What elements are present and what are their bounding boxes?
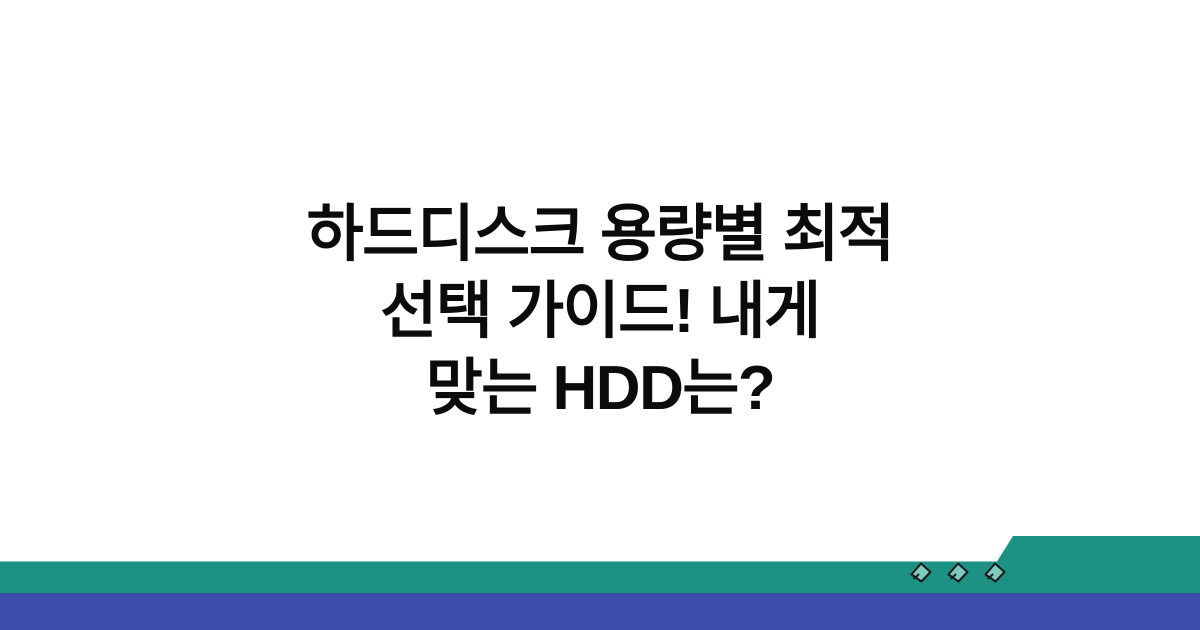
- bottom-band-group: [0, 530, 1200, 630]
- diamond-icon: [945, 560, 971, 586]
- diamond-ornament-group: [908, 558, 1008, 588]
- title-line-3: 맞는 HDD는?: [60, 350, 1140, 427]
- title-line-2: 선택 가이드! 내게: [60, 273, 1140, 350]
- page-title: 하드디스크 용량별 최적 선택 가이드! 내게 맞는 HDD는?: [0, 196, 1200, 427]
- diamond-icon: [982, 560, 1008, 586]
- thumbnail-card: 하드디스크 용량별 최적 선택 가이드! 내게 맞는 HDD는?: [0, 0, 1200, 630]
- title-line-1: 하드디스크 용량별 최적: [60, 196, 1140, 273]
- blue-accent-band: [0, 593, 1200, 630]
- diamond-icon: [908, 560, 934, 586]
- teal-accent-band: [0, 536, 1200, 593]
